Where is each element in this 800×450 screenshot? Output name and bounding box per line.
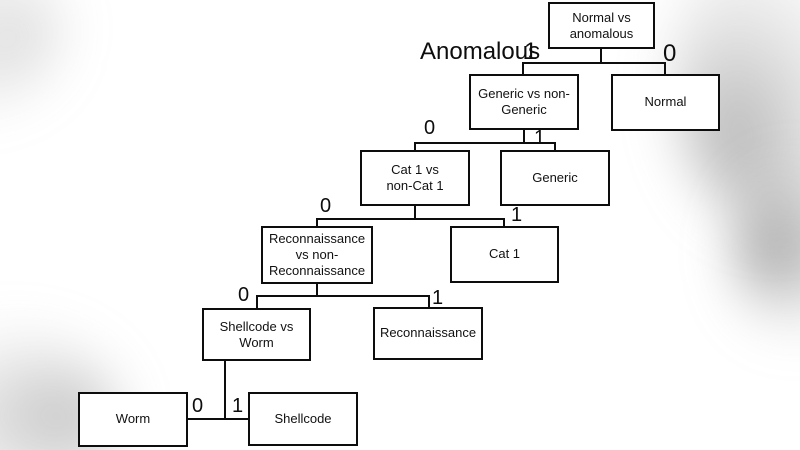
node-recon-vs-non-recon[interactable]: Reconnaissancevs non-Reconnaissance — [261, 226, 373, 284]
branch-label-cat-one: 1 — [511, 205, 522, 225]
node-label: Shellcode vsWorm — [220, 319, 294, 351]
node-label: Generic — [532, 169, 578, 188]
node-label: Cat 1 — [489, 245, 520, 264]
branch-label-gen-zero: 0 — [424, 118, 435, 138]
node-label: Shellcode — [274, 410, 331, 429]
node-reconnaissance[interactable]: Reconnaissance — [373, 307, 483, 360]
background-blur-right — [736, 160, 800, 340]
edge-recon-bar — [256, 295, 430, 297]
background-blur-top-left — [0, 0, 60, 110]
node-label: Cat 1 vsnon-Cat 1 — [386, 162, 443, 194]
branch-label-recon-zero: 0 — [238, 285, 249, 305]
node-label: Reconnaissance — [380, 324, 476, 343]
diagram-canvas: Normal vsanomalousNormalGeneric vs non-G… — [0, 0, 800, 450]
node-normal[interactable]: Normal — [611, 74, 720, 131]
edge-root-bar — [522, 62, 666, 64]
node-normal-vs-anomalous[interactable]: Normal vsanomalous — [548, 2, 655, 49]
branch-label-recon-one: 1 — [432, 288, 443, 308]
node-shellcode-vs-worm[interactable]: Shellcode vsWorm — [202, 308, 311, 361]
node-label: Worm — [116, 410, 150, 429]
branch-label-shell-zero: 0 — [192, 396, 203, 416]
node-label: Generic vs non-Generic — [478, 86, 570, 118]
node-label: Normal vsanomalous — [570, 10, 634, 42]
node-label: Reconnaissancevs non-Reconnaissance — [269, 231, 365, 279]
branch-label-cat-zero: 0 — [320, 196, 331, 216]
node-generic[interactable]: Generic — [500, 150, 610, 206]
edge-root-stem — [600, 49, 602, 63]
edge-cat-bar — [316, 218, 505, 220]
branch-label-root-zero: 0 — [663, 42, 676, 66]
edge-shell-to-shell — [224, 418, 249, 420]
node-cat1[interactable]: Cat 1 — [450, 226, 559, 283]
branch-label-gen-one: 1 — [534, 128, 545, 148]
edge-recon-to-shell — [256, 295, 258, 309]
node-cat1-vs-non-cat1[interactable]: Cat 1 vsnon-Cat 1 — [360, 150, 470, 206]
branch-label-shell-one: 1 — [232, 396, 243, 416]
edge-shell-stem — [224, 361, 226, 419]
node-generic-vs-non-generic[interactable]: Generic vs non-Generic — [469, 74, 579, 130]
node-worm[interactable]: Worm — [78, 392, 188, 447]
edge-shell-to-worm — [187, 418, 225, 420]
node-shellcode[interactable]: Shellcode — [248, 392, 358, 446]
node-label: Normal — [645, 93, 687, 112]
root-label: Anomalous — [420, 40, 540, 64]
